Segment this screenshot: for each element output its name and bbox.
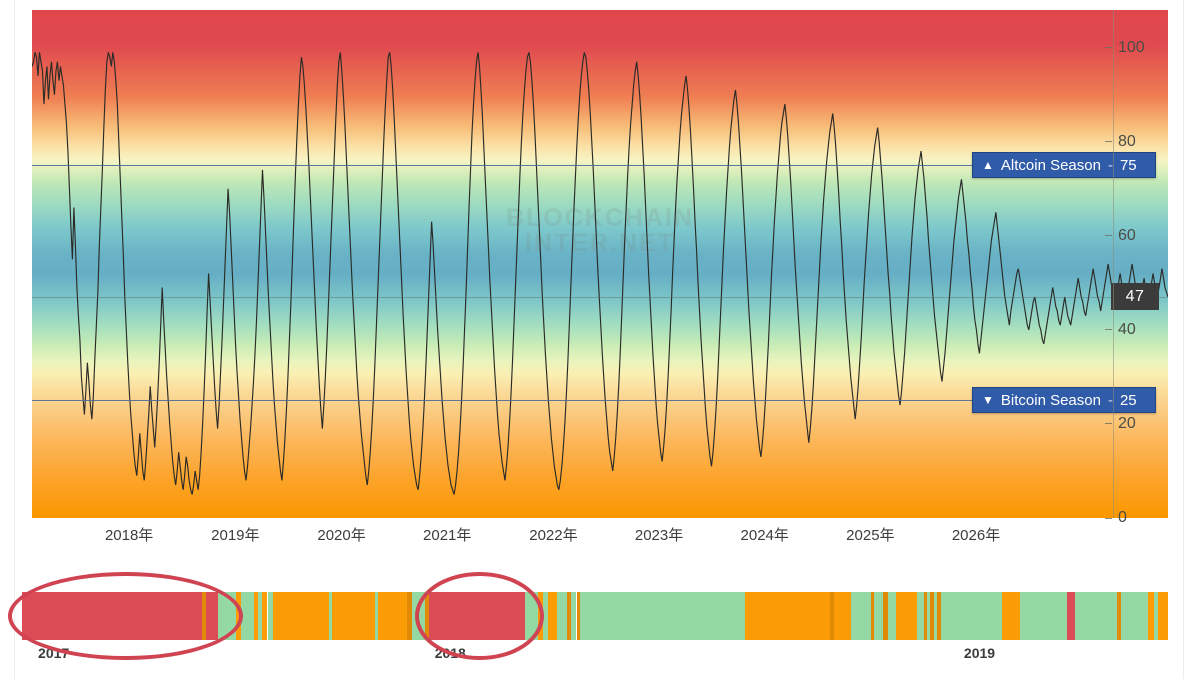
y-tick-20: 20 [1105,414,1136,434]
navigator-band [834,592,851,640]
y-tick-mark [1105,47,1112,48]
y-tick-mark [1105,518,1112,519]
navigator-year-label: 2017 [38,645,69,661]
range-navigator[interactable] [15,592,1168,640]
x-axis-label: 2019年 [211,524,259,545]
x-axis-label: 2026年 [952,524,1000,545]
altcoin-season-label: Altcoin Season [1001,157,1101,174]
navigator-band [1075,592,1118,640]
navigator-band [941,592,1002,640]
altcoin-threshold-line [32,165,1113,166]
triangle-up-icon: ▲ [982,159,994,171]
navigator-band [1121,592,1149,640]
x-axis-label: 2025年 [846,524,894,545]
x-axis-label: 2024年 [741,524,789,545]
y-tick-40: 40 [1105,320,1136,340]
navigator-band [378,592,407,640]
y-tick-80: 80 [1105,132,1136,152]
x-axis: 2018年2019年2020年2021年2022年2023年2024年2025年… [32,524,1168,558]
y-tick-label: 20 [1118,415,1136,433]
index-line-series [32,10,1168,518]
plot-area[interactable]: BLOCKCHAIN INTER.NET [32,10,1168,518]
y-tick-60: 60 [1105,226,1136,246]
navigator-band [580,592,745,640]
navigator-band [218,592,236,640]
navigator-band [429,592,525,640]
altcoin-season-index-chart: BLOCKCHAIN INTER.NET ▲ Altcoin Season - … [0,0,1200,679]
navigator-year-labels: 201720182019 [15,645,1168,667]
current-value-line [32,297,1168,298]
x-axis-label: 2018年 [105,524,153,545]
navigator-year-label: 2018 [435,645,466,661]
y-tick-mark [1105,329,1112,330]
triangle-down-icon: ▼ [982,394,994,406]
bitcoin-threshold-line [32,400,1113,401]
navigator-band [1067,592,1075,640]
y-axis-line [1113,10,1114,518]
navigator-band [745,592,830,640]
series-line-path [32,52,1168,494]
navigator-band [896,592,917,640]
y-tick-mark [1105,141,1112,142]
navigator-band [1002,592,1020,640]
navigator-band [548,592,557,640]
navigator-band [557,592,567,640]
navigator-band [874,592,883,640]
navigator-band [22,592,202,640]
y-tick-100: 100 [1105,38,1145,58]
navigator-season-bands[interactable] [15,592,1168,640]
navigator-band [888,592,896,640]
y-tick-mark [1105,423,1112,424]
y-axis: 100806040200 [1105,10,1200,518]
navigator-band [851,592,871,640]
navigator-band [206,592,218,640]
x-axis-label: 2023年 [635,524,683,545]
navigator-band [241,592,254,640]
navigator-year-label: 2019 [964,645,995,661]
x-axis-label: 2022年 [529,524,577,545]
y-tick-label: 60 [1118,227,1136,245]
navigator-band [525,592,539,640]
y-tick-mark [1105,235,1112,236]
navigator-band [412,592,426,640]
y-tick-label: 40 [1118,321,1136,339]
navigator-band [1020,592,1066,640]
frame-border-left [14,0,15,679]
navigator-band [917,592,924,640]
navigator-band [332,592,375,640]
navigator-band [1158,592,1168,640]
bitcoin-season-label: Bitcoin Season [1001,392,1101,409]
navigator-band [273,592,328,640]
y-tick-label: 80 [1118,133,1136,151]
x-axis-label: 2020年 [317,524,365,545]
y-tick-label: 100 [1118,39,1145,57]
navigator-band [15,592,22,640]
x-axis-label: 2021年 [423,524,471,545]
